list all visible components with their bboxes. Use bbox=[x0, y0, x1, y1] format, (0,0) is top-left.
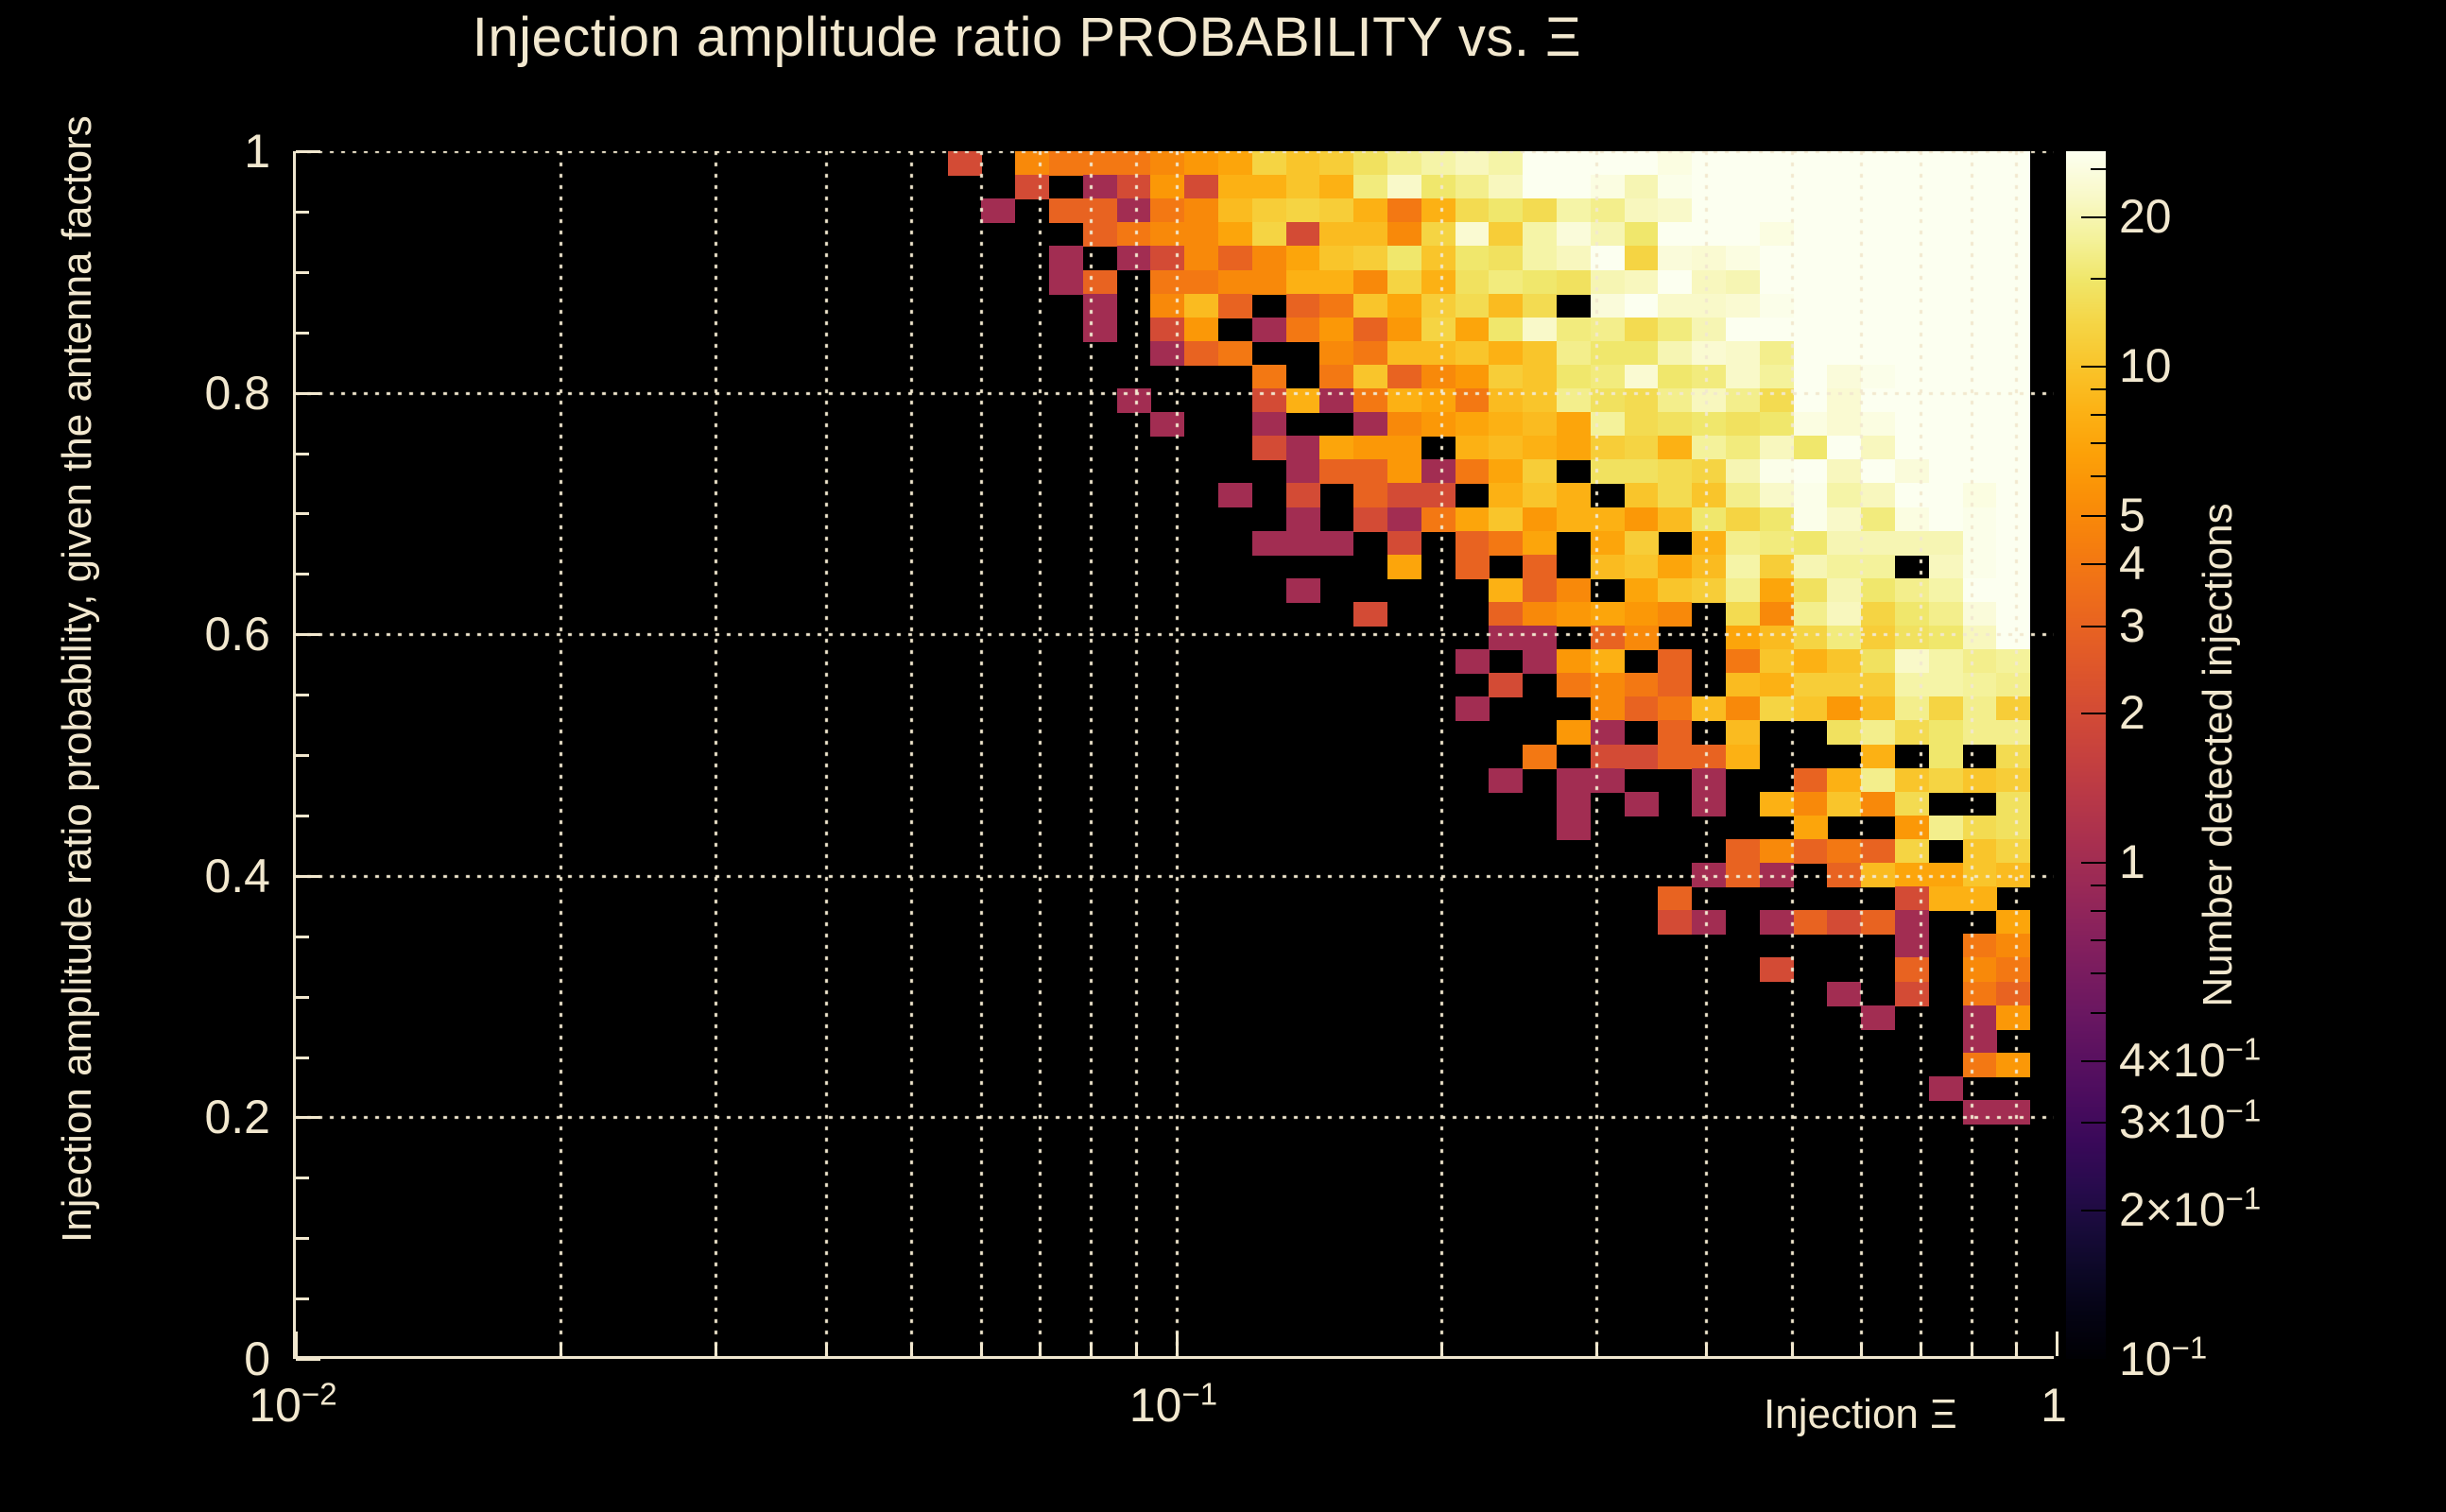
colorbar-tick-label: 3 bbox=[2119, 602, 2145, 649]
colorbar-tick-label: 1 bbox=[2119, 838, 2145, 885]
colorbar-gradient bbox=[2066, 151, 2106, 1359]
colorbar-tick-label: 10 bbox=[2119, 342, 2172, 389]
colorbar-minor-tick bbox=[2091, 442, 2106, 444]
colorbar-major-tick bbox=[2081, 216, 2106, 218]
colorbar-major-tick bbox=[2081, 515, 2106, 517]
colorbar: 2010543214×10−13×10−12×10−110−1 bbox=[2066, 151, 2106, 1359]
y-axis-title: Injection amplitude ratio probability, g… bbox=[54, 128, 101, 1243]
colorbar-tick-label: 2 bbox=[2119, 689, 2145, 736]
colorbar-minor-tick bbox=[2091, 475, 2106, 477]
x-axis-tick-label: 10−1 bbox=[1129, 1382, 1217, 1429]
colorbar-major-tick bbox=[2081, 1359, 2106, 1361]
colorbar-minor-tick bbox=[2091, 388, 2106, 390]
colorbar-major-tick bbox=[2081, 626, 2106, 627]
colorbar-major-tick bbox=[2081, 862, 2106, 864]
colorbar-minor-tick bbox=[2091, 168, 2106, 170]
colorbar-minor-tick bbox=[2091, 1012, 2106, 1014]
colorbar-major-tick bbox=[2081, 366, 2106, 368]
colorbar-major-tick bbox=[2081, 1122, 2106, 1124]
x-axis-title: Injection Ξ bbox=[1764, 1391, 1957, 1438]
colorbar-minor-tick bbox=[2091, 939, 2106, 941]
colorbar-tick-label: 4 bbox=[2119, 540, 2145, 587]
plot-root: Injection amplitude ratio PROBABILITY vs… bbox=[0, 0, 2446, 1512]
colorbar-minor-tick bbox=[2091, 972, 2106, 974]
colorbar-minor-tick bbox=[2091, 278, 2106, 280]
colorbar-minor-tick bbox=[2091, 414, 2106, 416]
colorbar-minor-tick bbox=[2091, 885, 2106, 886]
x-axis-tick-label: 10−2 bbox=[249, 1382, 336, 1429]
colorbar-major-tick bbox=[2081, 713, 2106, 714]
colorbar-major-tick bbox=[2081, 1060, 2106, 1062]
colorbar-major-tick bbox=[2081, 1210, 2106, 1211]
colorbar-title: Number detected injections bbox=[2195, 151, 2244, 1359]
colorbar-major-tick bbox=[2081, 563, 2106, 565]
colorbar-tick-label: 20 bbox=[2119, 193, 2172, 240]
colorbar-tick-label: 5 bbox=[2119, 491, 2145, 539]
colorbar-minor-tick bbox=[2091, 910, 2106, 912]
x-axis-tick-label: 1 bbox=[2041, 1382, 2067, 1429]
